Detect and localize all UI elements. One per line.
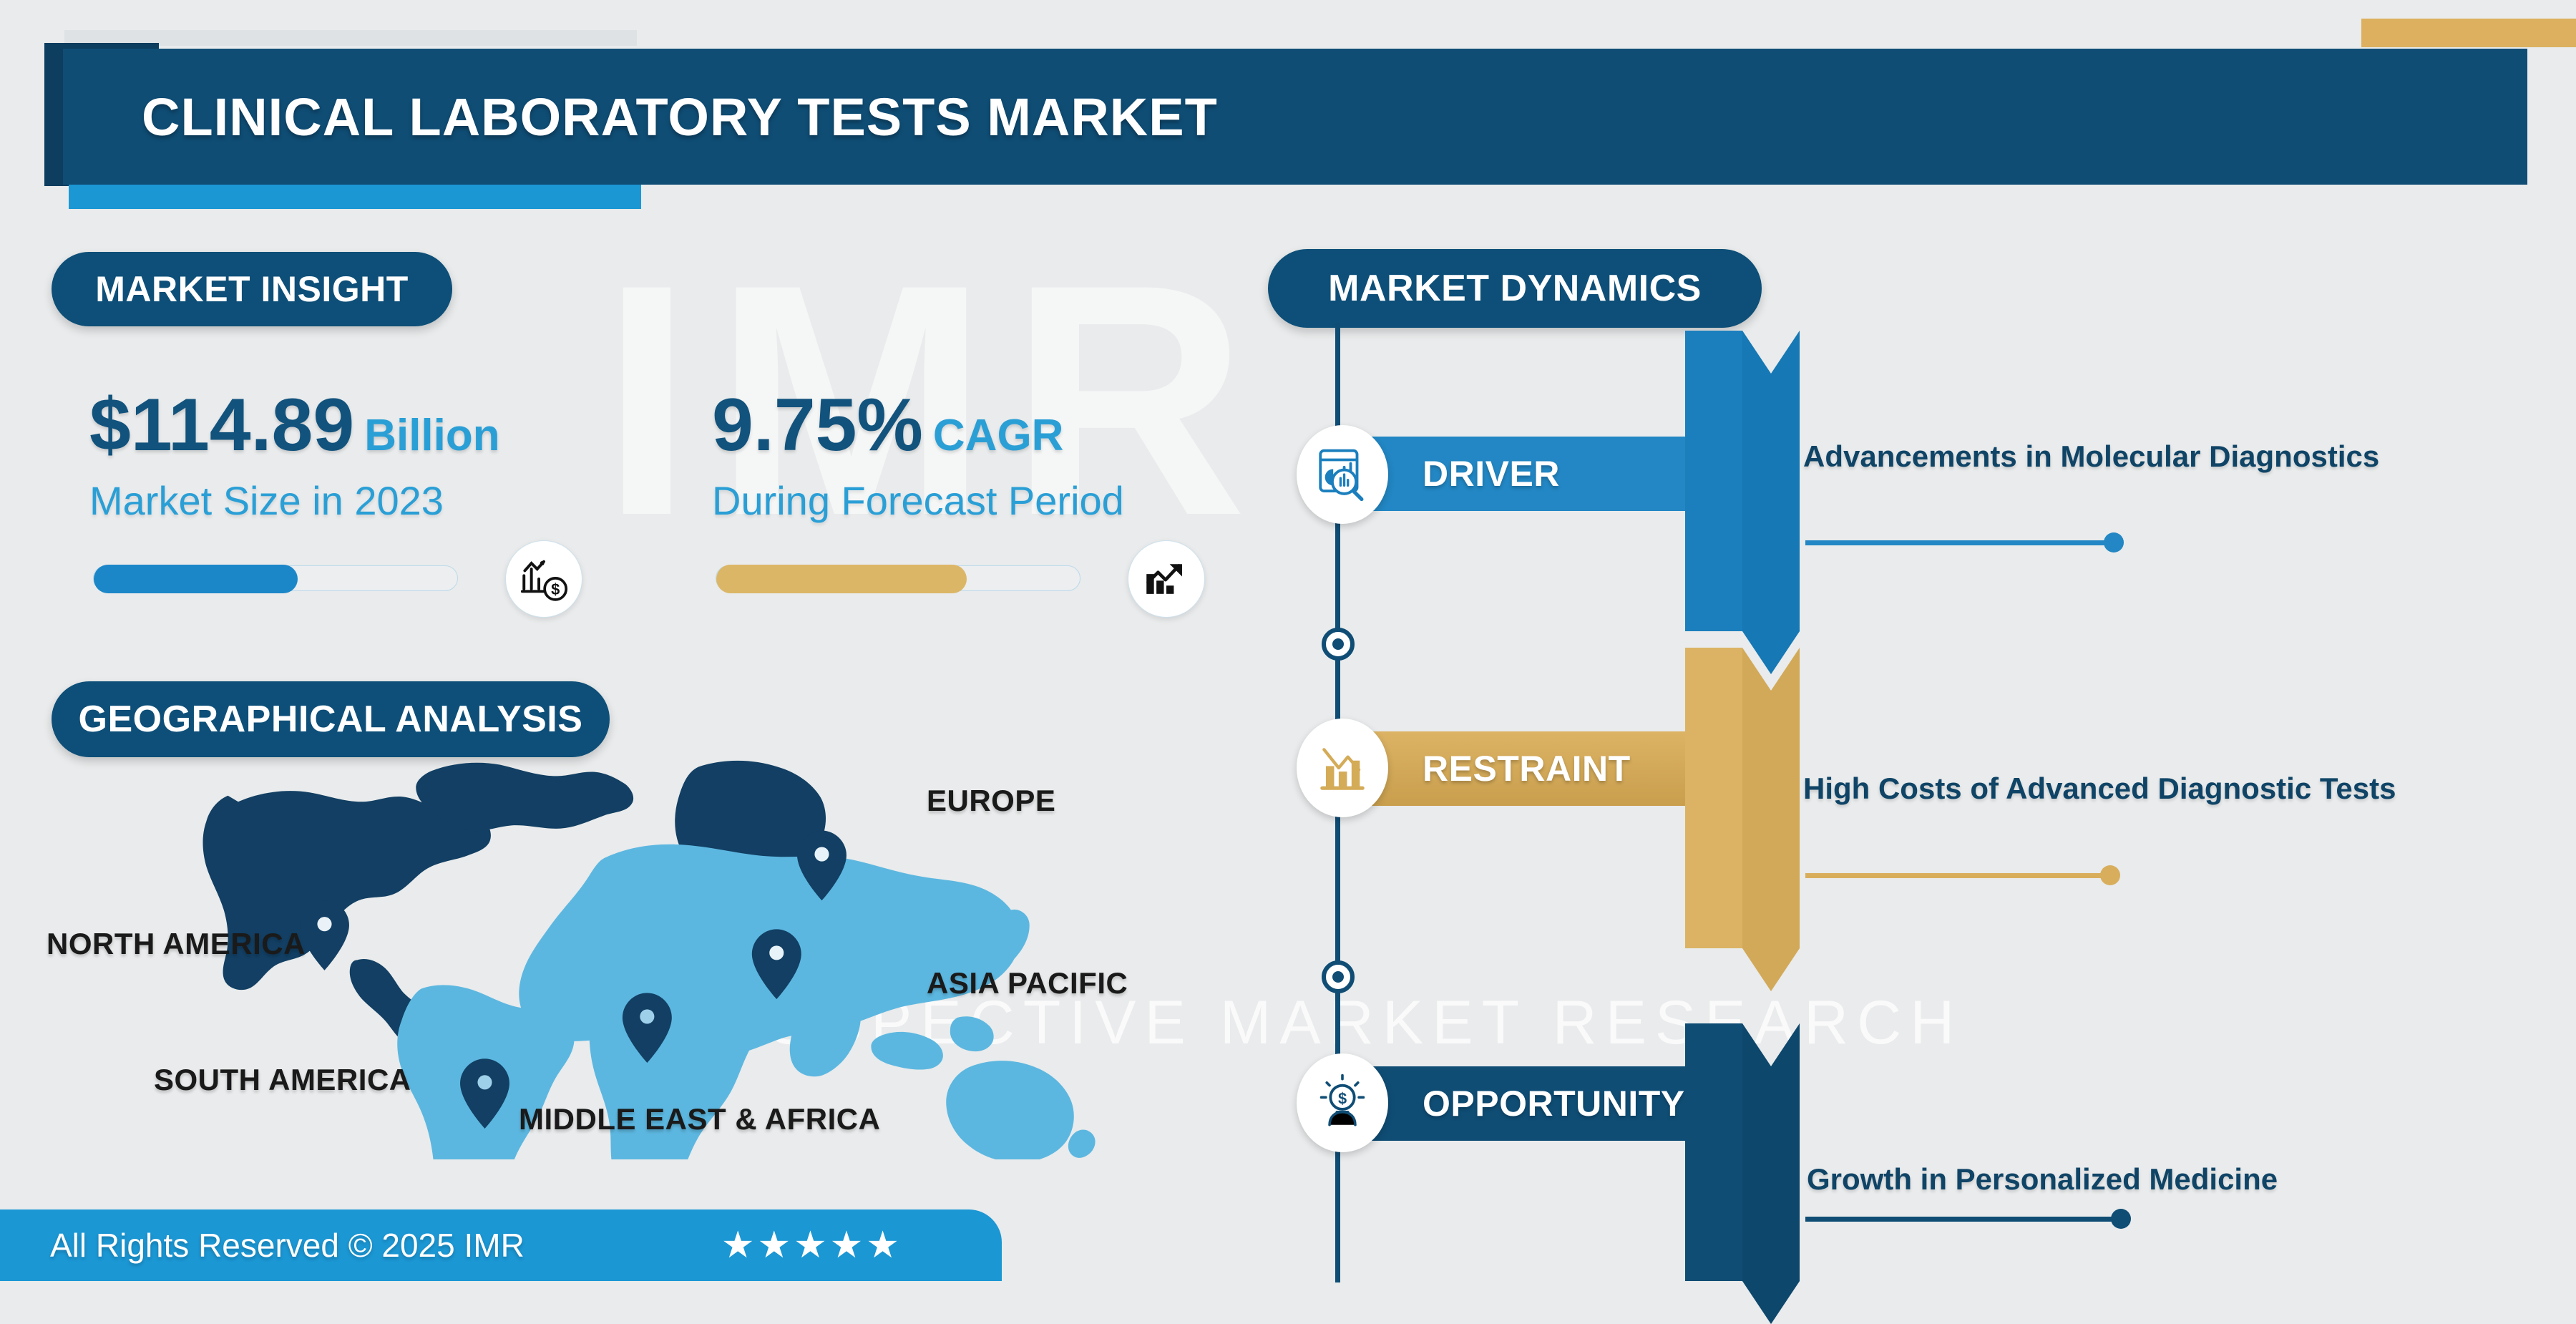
rating-stars-icon: ★★★★★	[721, 1224, 902, 1267]
restraint-description: High Costs of Advanced Diagnostic Tests	[1803, 767, 2397, 811]
cagr-progress-fill	[716, 565, 967, 593]
section-label-market-dynamics: MARKET DYNAMICS	[1268, 249, 1762, 328]
cagr-unit: CAGR	[933, 411, 1064, 460]
restraint-label: RESTRAINT	[1423, 748, 1631, 789]
bar-chart-dollar-icon: $	[505, 540, 582, 618]
cagr-value: 9.75%	[712, 384, 923, 467]
stat-market-size: $114.89Billion Market Size in 2023	[89, 386, 633, 524]
restraint-underline-dot	[2100, 865, 2120, 885]
driver-label: DRIVER	[1423, 453, 1560, 495]
market-size-caption: Market Size in 2023	[89, 477, 633, 524]
cagr-value-row: 9.75%CAGR	[712, 386, 1256, 464]
page-title: CLINICAL LABORATORY TESTS MARKET	[142, 87, 1218, 147]
declining-bar-chart-icon	[1297, 719, 1388, 817]
opportunity-underline-dot	[2111, 1209, 2131, 1229]
pill-label-text: MARKET DYNAMICS	[1328, 267, 1702, 310]
map-label-asia-pacific: ASIA PACIFIC	[927, 966, 1128, 1001]
market-size-progress-fill	[94, 565, 298, 593]
svg-text:$: $	[1338, 1089, 1347, 1107]
chart-magnifier-icon	[1297, 425, 1388, 524]
timeline-node-1	[1322, 628, 1355, 661]
market-size-value: $114.89	[89, 384, 354, 467]
opportunity-chevron-ribbon	[1685, 1023, 1800, 1324]
footer-copyright: All Rights Reserved © 2025 IMR	[50, 1226, 525, 1265]
driver-chevron-ribbon	[1685, 331, 1800, 674]
footer-bar: All Rights Reserved © 2025 IMR ★★★★★	[0, 1209, 1002, 1281]
market-size-value-row: $114.89Billion	[89, 386, 633, 464]
cagr-progress-row	[716, 565, 1131, 591]
pill-label-text: MARKET INSIGHT	[95, 268, 409, 310]
map-label-middle-east-africa: MIDDLE EAST & AFRICA	[519, 1102, 880, 1136]
driver-underline-dot	[2104, 532, 2124, 553]
pill-label-text: GEOGRAPHICAL ANALYSIS	[79, 698, 583, 741]
cagr-progress-track	[716, 565, 1080, 591]
map-label-europe: EUROPE	[927, 784, 1055, 818]
driver-description: Advancements in Molecular Diagnostics	[1803, 435, 2397, 479]
section-label-market-insight: MARKET INSIGHT	[52, 252, 452, 326]
opportunity-description: Growth in Personalized Medicine	[1807, 1158, 2401, 1202]
header-lightblue-underbar	[69, 185, 641, 209]
timeline-node-2	[1322, 960, 1355, 993]
opportunity-underline	[1805, 1217, 2124, 1222]
stat-cagr: 9.75%CAGR During Forecast Period	[712, 386, 1256, 524]
header-gold-accent	[2361, 19, 2576, 47]
restraint-chevron-ribbon	[1685, 648, 1800, 991]
lightbulb-dollar-icon: $	[1297, 1053, 1388, 1152]
section-label-geographical-analysis: GEOGRAPHICAL ANALYSIS	[52, 681, 610, 757]
svg-text:$: $	[551, 580, 560, 598]
market-size-unit: Billion	[364, 411, 499, 460]
header-bar: CLINICAL LABORATORY TESTS MARKET	[63, 49, 2527, 185]
map-pin-north-america	[300, 900, 349, 970]
market-size-progress-row: $	[93, 565, 508, 591]
driver-underline	[1805, 540, 2117, 545]
restraint-underline	[1805, 873, 2113, 878]
growth-arrow-icon	[1128, 540, 1205, 618]
opportunity-label: OPPORTUNITY	[1423, 1083, 1685, 1124]
map-label-south-america: SOUTH AMERICA	[154, 1063, 411, 1097]
market-size-progress-track: $	[93, 565, 458, 591]
map-label-north-america: NORTH AMERICA	[47, 927, 306, 961]
cagr-caption: During Forecast Period	[712, 477, 1256, 524]
